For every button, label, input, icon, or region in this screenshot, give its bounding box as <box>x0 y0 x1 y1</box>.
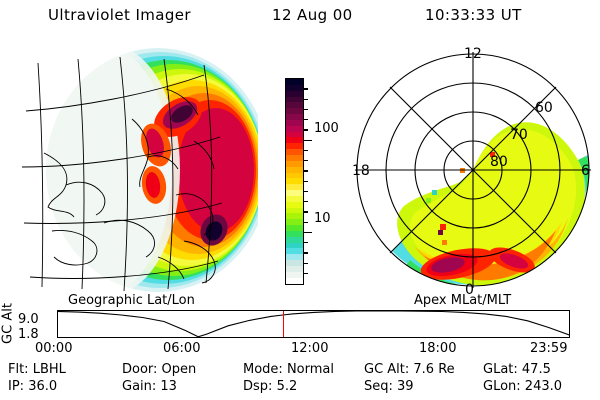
status-field-dsp: Dsp: 5.2 <box>243 379 297 394</box>
mlt-label-18: 18 <box>352 163 370 179</box>
colorbar-panel: photon cm-2s-1 100 10 <box>262 60 357 300</box>
status-value: 47.5 <box>522 362 551 377</box>
orbit-x-tick-3: 18:00 <box>419 341 456 356</box>
orbit-track-canvas <box>57 310 570 338</box>
status-label: GLat: <box>483 362 522 377</box>
colorbar-minor-tick <box>303 222 308 223</box>
colorbar-major-tick <box>303 140 312 141</box>
status-value: Open <box>162 362 197 377</box>
earth-disk-image-panel[interactable] <box>8 45 258 295</box>
colorbar-minor-tick <box>303 109 308 110</box>
status-label: GLon: <box>483 379 525 394</box>
status-field-flt: Flt: LBHL <box>8 362 66 377</box>
colorbar-minor-tick <box>303 263 308 264</box>
orbit-y-axis-title: GC Alt <box>1 299 16 349</box>
observation-date: 12 Aug 00 <box>272 6 353 24</box>
status-field-door: Door: Open <box>122 362 196 377</box>
earth-disk-canvas <box>8 45 258 295</box>
observation-time: 10:33:33 UT <box>425 6 522 24</box>
colorbar-band-34 <box>286 278 303 284</box>
orbit-x-tick-2: 12:00 <box>291 341 328 356</box>
status-readout: Flt: LBHLDoor: OpenMode: NormalGC Alt: 7… <box>0 362 600 400</box>
colorbar-minor-tick <box>303 201 308 202</box>
uv-imager-display: Ultraviolet Imager 12 Aug 00 10:33:33 UT <box>0 0 600 400</box>
polar-dial-canvas: 12 6 0 18 60 70 80 <box>352 42 600 298</box>
orbit-altitude-chart[interactable]: GC Alt 9.0 1.8 00:00 06:00 12:00 18:00 2… <box>0 306 600 356</box>
status-label: Flt: <box>8 362 33 377</box>
status-row: IP: 36.0Gain: 13Dsp: 5.2Seq: 39GLon: 243… <box>0 379 600 396</box>
mlt-label-6: 6 <box>581 163 590 179</box>
status-label: Gain: <box>122 379 160 394</box>
aurora-emission-layer <box>28 45 258 295</box>
current-time-marker <box>283 311 285 337</box>
lat-label-70: 70 <box>510 127 528 143</box>
colorbar-ticks <box>303 78 311 283</box>
colorbar-minor-tick <box>303 119 308 120</box>
orbit-altitude-trace <box>57 311 570 337</box>
status-field-glat: GLat: 47.5 <box>483 362 551 377</box>
colorbar-minor-tick <box>303 252 308 253</box>
colorbar-gradient <box>285 78 304 285</box>
orbit-x-tick-1: 06:00 <box>163 341 200 356</box>
colorbar-minor-tick <box>303 129 308 130</box>
status-label: Mode: <box>243 362 287 377</box>
colorbar-minor-tick <box>303 150 308 151</box>
colorbar-major-tick <box>303 232 312 233</box>
status-value: Normal <box>287 362 334 377</box>
lat-label-60: 60 <box>535 100 553 116</box>
header-bar: Ultraviolet Imager 12 Aug 00 10:33:33 UT <box>0 6 600 32</box>
status-field-glon: GLon: 243.0 <box>483 379 562 394</box>
status-label: Door: <box>122 362 162 377</box>
polar-grid <box>355 52 591 288</box>
status-field-gc-alt: GC Alt: 7.6 Re <box>364 362 455 377</box>
orbit-x-tick-0: 00:00 <box>35 341 72 356</box>
status-label: GC Alt: <box>364 362 413 377</box>
colorbar-minor-tick <box>303 181 308 182</box>
status-field-mode: Mode: Normal <box>243 362 334 377</box>
colorbar-minor-tick <box>303 160 308 161</box>
colorbar-minor-tick <box>303 242 308 243</box>
status-value: 243.0 <box>525 379 562 394</box>
status-field-ip: IP: 36.0 <box>8 379 57 394</box>
status-label: Seq: <box>364 379 397 394</box>
colorbar-minor-tick <box>303 191 308 192</box>
status-row: Flt: LBHLDoor: OpenMode: NormalGC Alt: 7… <box>0 362 600 379</box>
lat-label-80: 80 <box>490 154 508 170</box>
polar-mlt-plot-panel[interactable]: 12 6 0 18 60 70 80 <box>352 42 600 298</box>
status-value: 39 <box>397 379 414 394</box>
colorbar-minor-tick <box>303 273 308 274</box>
status-field-seq: Seq: 39 <box>364 379 414 394</box>
orbit-x-tick-4: 23:59 <box>530 341 567 356</box>
colorbar-label-10: 10 <box>314 212 331 225</box>
colorbar-minor-tick <box>303 88 308 89</box>
colorbar-label-100: 100 <box>314 122 339 135</box>
status-label: IP: <box>8 379 28 394</box>
status-field-gain: Gain: 13 <box>122 379 177 394</box>
status-value: 5.2 <box>277 379 298 394</box>
mlt-label-12: 12 <box>464 46 482 62</box>
aurora-oval-layer <box>392 122 600 298</box>
colorbar-minor-tick <box>303 170 308 171</box>
colorbar-minor-tick <box>303 211 308 212</box>
colorbar-minor-tick <box>303 99 308 100</box>
status-label: Dsp: <box>243 379 277 394</box>
status-value: 13 <box>160 379 177 394</box>
instrument-title: Ultraviolet Imager <box>48 6 191 24</box>
status-value: 7.6 Re <box>413 362 454 377</box>
status-value: 36.0 <box>28 379 57 394</box>
status-value: LBHL <box>33 362 66 377</box>
